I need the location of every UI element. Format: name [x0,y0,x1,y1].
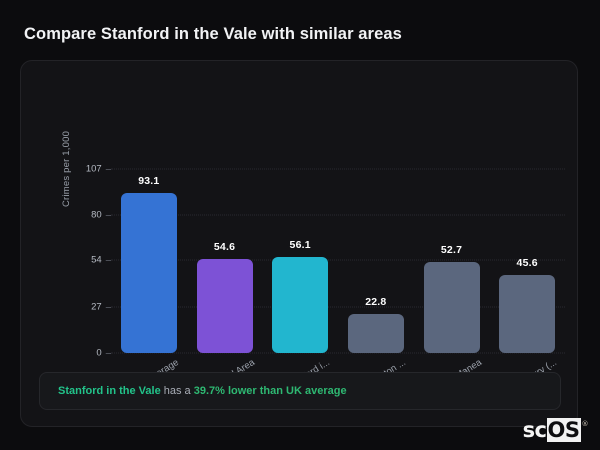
y-axis-tick-label: 80– [91,210,111,221]
y-axis-tick-label: 107– [86,164,111,175]
bar-group[interactable]: 54.6Local Area [197,61,253,371]
watermark-prefix: sc [523,418,547,442]
comparison-note: Stanford in the Vale has a 39.7% lower t… [39,372,561,410]
bar-group[interactable]: 52.7Manea [424,61,480,371]
y-axis-tick-label: 27– [91,301,111,312]
note-middle-text: has a [161,385,194,397]
chart-bars: 93.1UK Average54.6Local Area56.1Stanford… [111,61,565,371]
bar-value-label: 93.1 [121,175,177,187]
bar-value-label: 45.6 [499,257,555,269]
bar[interactable] [197,259,253,353]
bar-group[interactable]: 93.1UK Average [121,61,177,371]
bar[interactable] [348,314,404,353]
bar-value-label: 22.8 [348,296,404,308]
y-axis-ticks: 0–27–54–80–107– [65,61,111,371]
bar[interactable] [121,193,177,353]
y-axis-tick-label: 0– [96,348,111,359]
bar-value-label: 52.7 [424,244,480,256]
comparison-note-text: Stanford in the Vale has a 39.7% lower t… [58,385,347,397]
watermark-registered-icon: ® [582,420,589,428]
watermark-highlight: OS [547,418,581,442]
page-title: Compare Stanford in the Vale with simila… [24,25,402,44]
chart-card: Crimes per 1,000 0–27–54–80–107– 93.1UK … [20,60,578,427]
bar-group[interactable]: 22.8Willaston ... [348,61,404,371]
bar-group[interactable]: 45.6Timsbury (... [499,61,555,371]
bar-value-label: 56.1 [272,239,328,251]
bar-group[interactable]: 56.1Stanford i... [272,61,328,371]
bar-value-label: 54.6 [197,241,253,253]
scos-watermark: scOS® [523,418,588,442]
y-axis-tick-label: 54– [91,255,111,266]
bar[interactable] [272,257,328,353]
note-area-name: Stanford in the Vale [58,385,161,397]
chart-plot-area: Crimes per 1,000 0–27–54–80–107– 93.1UK … [21,61,579,371]
note-delta-value: 39.7% lower than UK average [194,385,347,397]
bar[interactable] [499,275,555,353]
bar[interactable] [424,262,480,353]
